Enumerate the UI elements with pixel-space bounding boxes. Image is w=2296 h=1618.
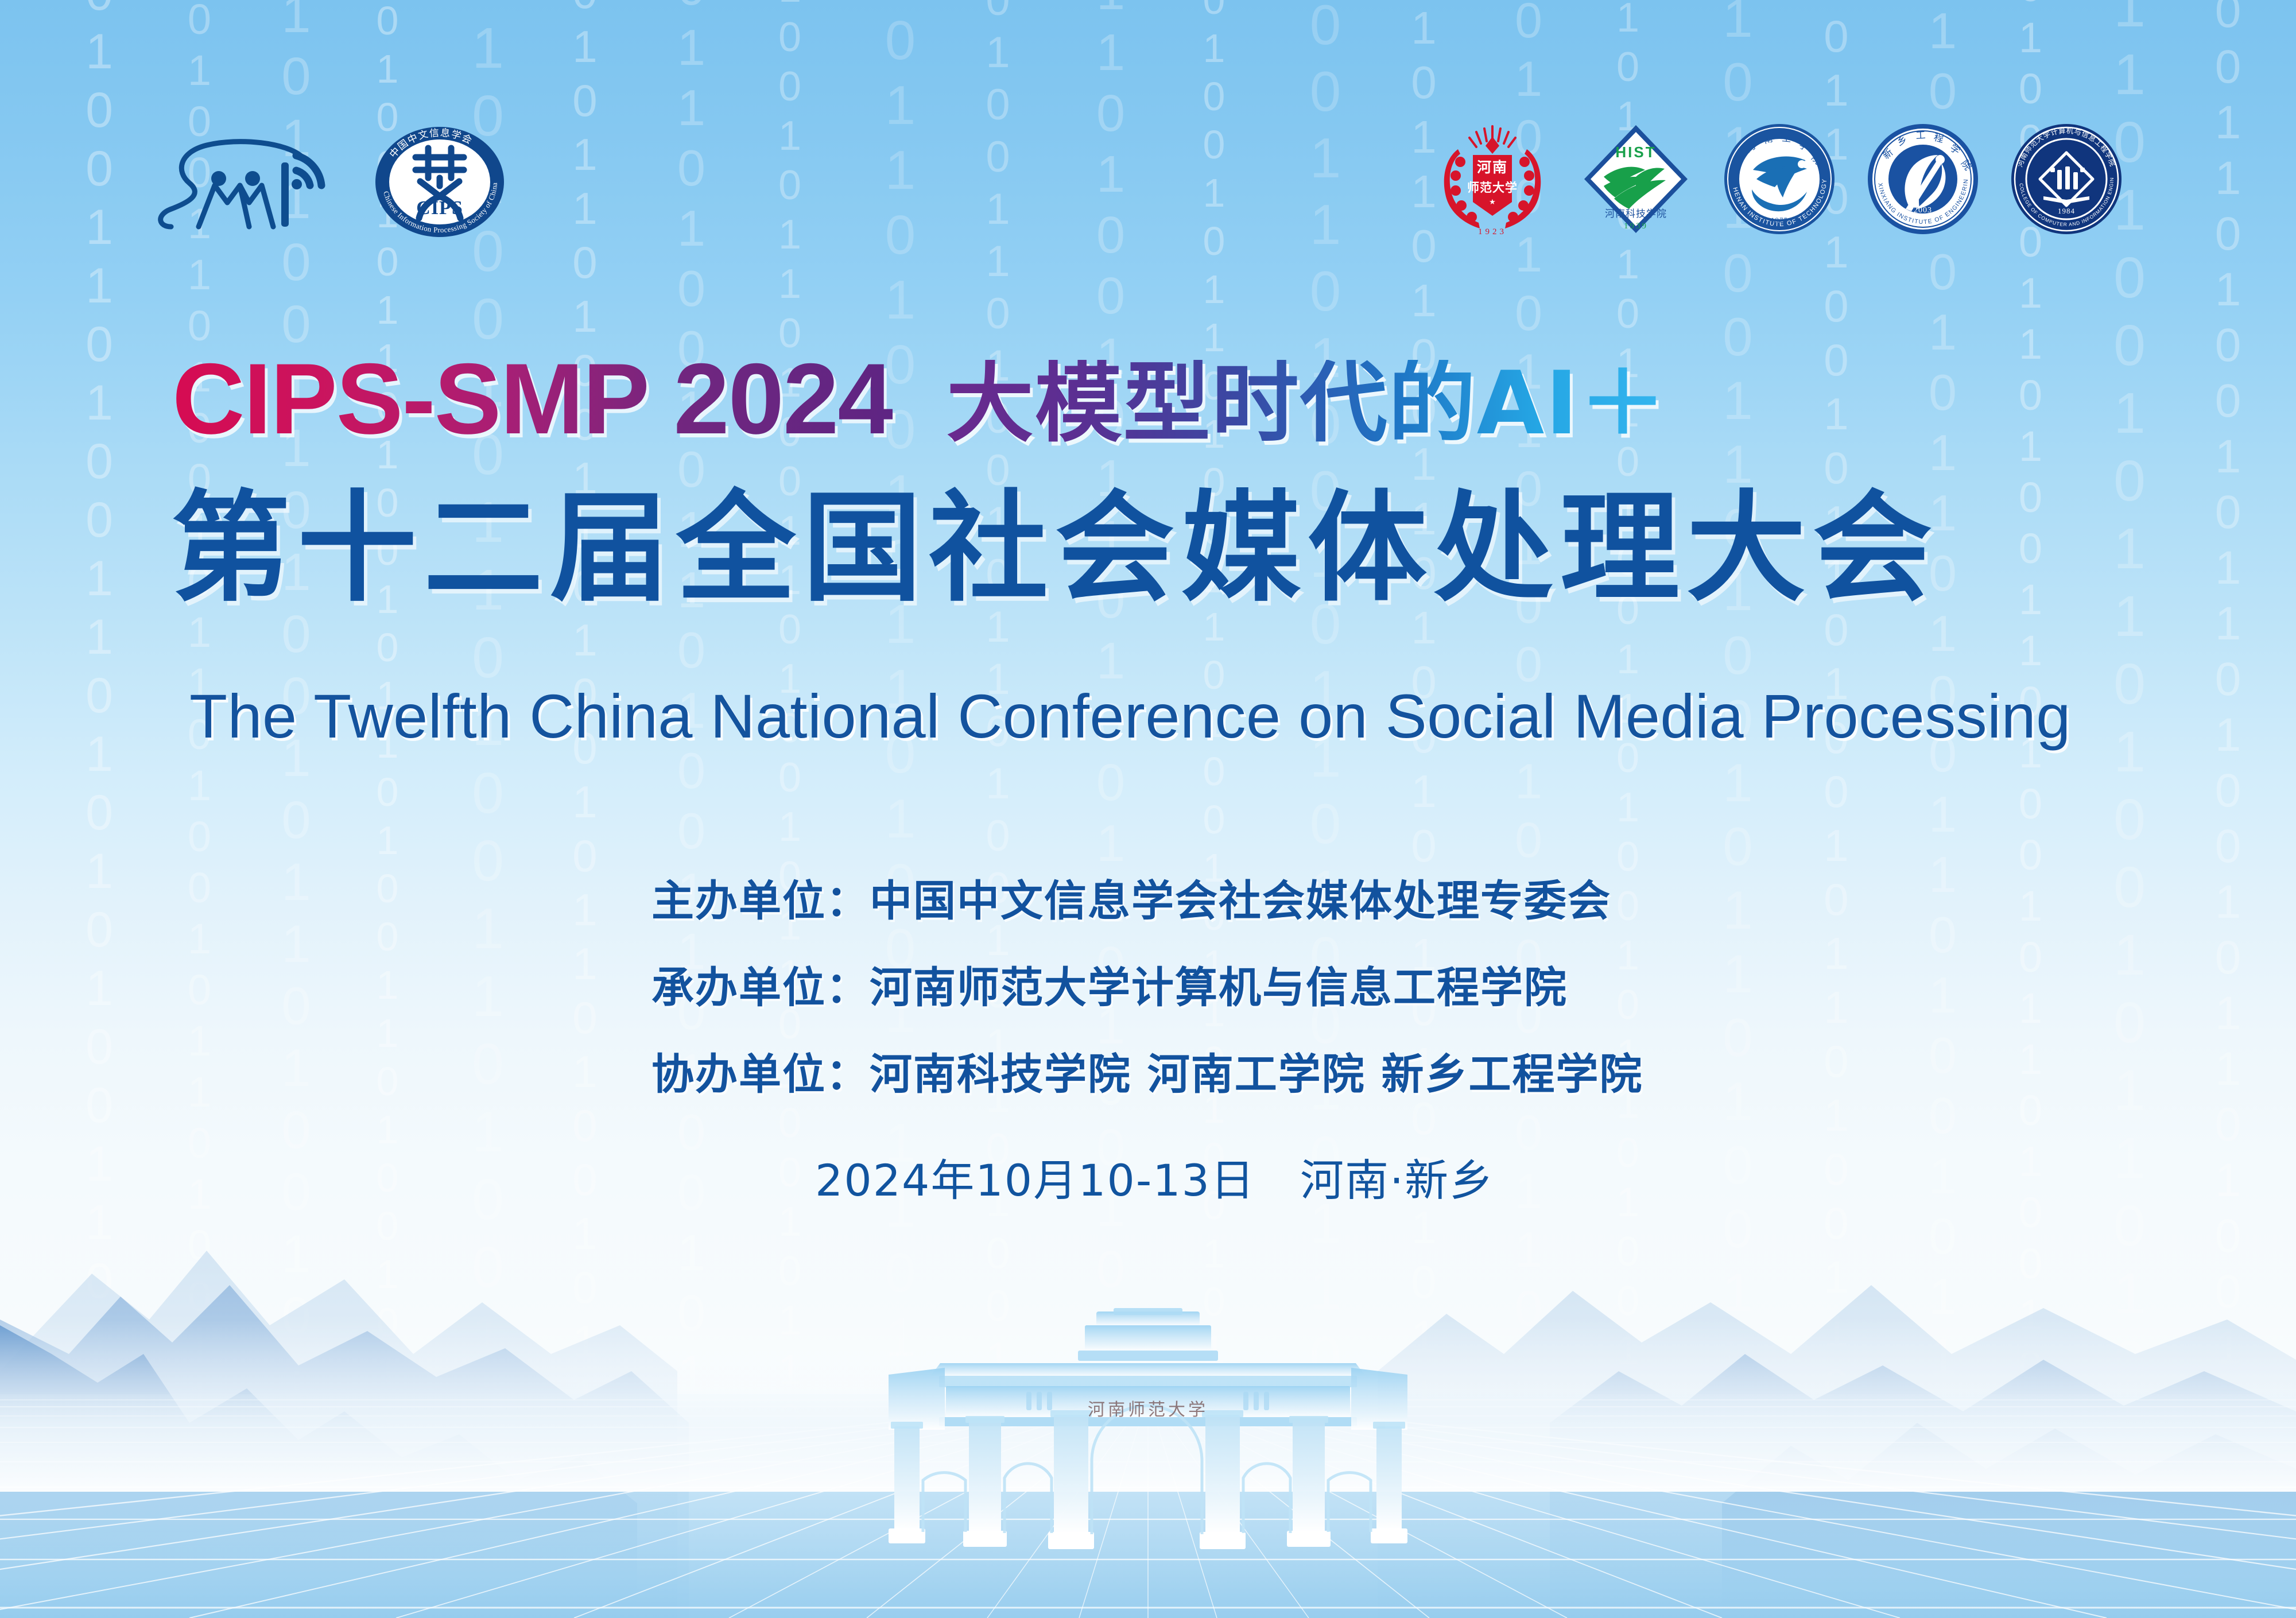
slogan-title: 大模型时代的AI＋ [947,360,1667,447]
mist-overlay [0,1320,2296,1492]
binary-column: 1010011010010110100101101001101001011010 [178,0,220,1618]
binary-column: 010011010010110100101101001101 [1297,0,1353,1618]
binary-column: 0100110100110101010011010010110101 [75,0,124,1618]
smp-logo [154,130,343,234]
xinxiang-institute-engineering-logo: 2003 新 乡 工 程 学 院 XINXIANG INSTITUTE OF E… [1865,122,1980,236]
university-gate: 河南师范大学 [827,1308,1469,1555]
svg-text:工: 工 [1915,130,1926,142]
date-location-line: 2024年10月10-13日 河南·新乡 [815,1145,1494,1208]
binary-column: 00110100101101001011010011010 [872,0,928,1618]
binary-column: 00110100101101001011010011010 [2101,0,2158,1618]
gate-inscription: 河南师范大学 [1088,1395,1208,1421]
conference-poster: 0100110100110101010011010010110101101001… [0,0,2296,1618]
binary-column: 10010110100110100101101001011010011 [563,0,607,1618]
headline-english: The Twelfth China National Conference on… [189,680,2071,752]
svg-text:1939: 1939 [1624,222,1648,231]
bottom-scenery: 河南师范大学 [0,1182,2296,1618]
organizer-line-coorganizer: 协办单位：河南科技学院 河南工学院 新乡工程学院 [651,1040,1643,1101]
title-row: CIPS-SMP 2024 大模型时代的AI＋ [172,349,1667,449]
brand-title: CIPS-SMP 2024 [172,349,893,449]
binary-column: 110100101101001101001011010010110100 [1607,0,1649,1618]
binary-column: 1001011010011010010110100101101001 [1401,0,1446,1618]
organizer-line-host: 主办单位：中国中文信息学会社会媒体处理专委会 [651,867,1643,928]
mountains-mid [0,1285,2296,1618]
binary-column: 101001101001011010010110100110100101 [976,0,1019,1618]
svg-text:CIPS: CIPS [416,197,463,219]
binary-column: 0101100110100101101001011010011 [1711,0,1764,1618]
organizer-block: 主办单位：中国中文信息学会社会媒体处理专委会 承办单位：河南师范大学计算机与信息… [651,867,1643,1101]
binary-column: 1101001011010011010010110100101101001011 [2009,0,2051,1618]
organizer-line-organizer: 承办单位：河南师范大学计算机与信息工程学院 [651,953,1643,1015]
svg-text:工: 工 [1782,133,1792,145]
svg-text:·1975·: ·1975· [1768,216,1791,224]
binary-column: 110100101101001011010011010010110100101 [367,0,408,1618]
svg-text:1923: 1923 [1478,227,1507,236]
binary-column: 11010010110100110100101101001011010010 [1194,0,1234,1618]
binary-code-background: 0100110100110101010011010010110101101001… [0,0,2296,1618]
headline-chinese: 第十二届全国社会媒体处理大会 [171,488,1939,610]
henan-normal-university-logo: 河南 师范大学 ★ 1923 [1435,122,1550,236]
svg-text:2003: 2003 [1914,206,1932,215]
svg-text:河南科技学院: 河南科技学院 [1605,208,1667,220]
binary-column: 10011010010110100101101001101001011 [1814,0,1859,1618]
mountains-near [0,1325,2296,1618]
binary-column: 011010010110100110100101101001011 [1917,0,1968,1618]
sponsor-logos-left: CIPS 中国中文信息学会 Chinese Information Proces… [154,125,506,239]
binary-column: 0110100101101001101001011010011 [1085,0,1137,1618]
binary-column: 010110100101101001101001011010010 [666,0,716,1618]
svg-text:师范大学: 师范大学 [1467,181,1518,195]
svg-text:河南: 河南 [1477,159,1508,176]
sponsor-logos-right: 河南 师范大学 ★ 1923 HIST 河南科技学院 19 [1435,122,2124,236]
binary-column: 1010011010010110100101101001101001 [2204,0,2251,1618]
svg-text:1984: 1984 [2058,207,2075,215]
binary-column: 01011001101001011010010110100110 [270,0,323,1618]
college-computer-information-engineering-logo: 1984 河南师范大学计算机与信息工程学院 COLLEGE OF COMPUTE… [2009,122,2124,236]
perspective-grid-floor [0,1394,2296,1618]
cips-logo: CIPS 中国中文信息学会 Chinese Information Proces… [373,125,506,239]
binary-column: 01101001011010011010010110100101 [1504,0,1553,1618]
binary-column: 0110100101101001101001011010 [459,0,517,1618]
svg-text:★: ★ [1489,198,1496,207]
binary-column: 1101001011010011010010110100101101001 [769,0,810,1618]
svg-text:HIST: HIST [1615,143,1656,161]
henan-institute-technology-logo: 河 南 工 学 院 HENAN INSTITUTE OF TECHNOLOGY … [1722,122,1837,236]
henan-institute-science-technology-logo: HIST 河南科技学院 1939 [1578,122,1693,236]
mountains-far [0,1251,2296,1618]
